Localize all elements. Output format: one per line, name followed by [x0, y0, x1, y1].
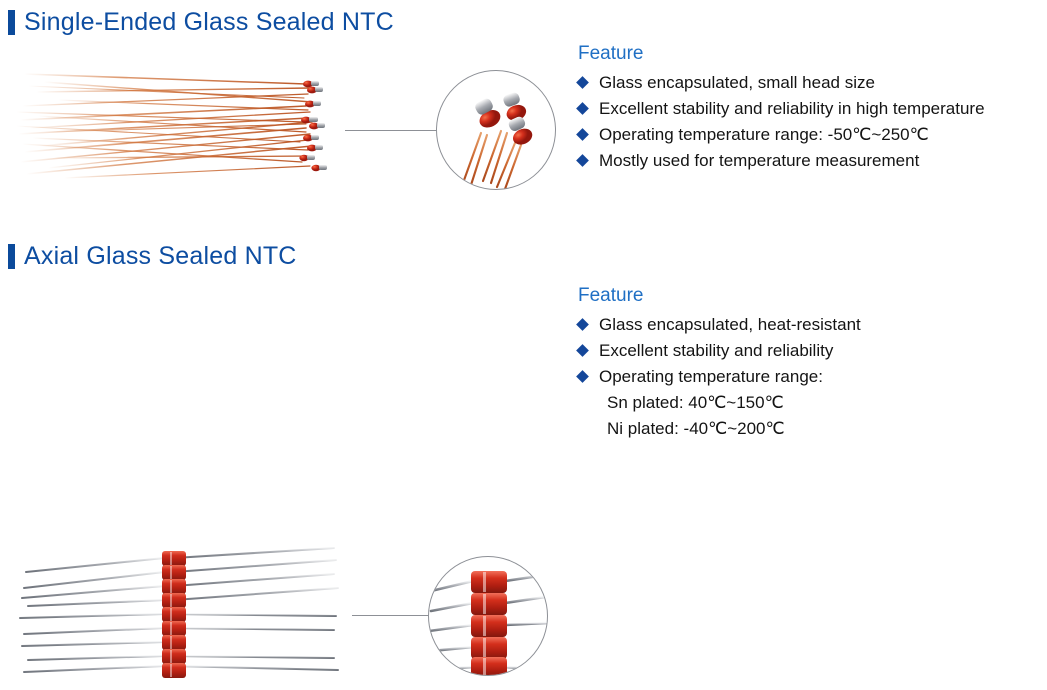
feature-text: Mostly used for temperature measurement — [599, 152, 919, 169]
diamond-bullet-icon — [576, 344, 589, 357]
feature-text: Excellent stability and reliability in h… — [599, 100, 985, 117]
feature-heading: Feature — [578, 44, 985, 65]
diamond-bullet-icon — [576, 102, 589, 115]
feature-subline: Sn plated: 40℃~150℃ — [578, 394, 861, 411]
product-section-axial: Axial Glass Sealed NTC — [0, 236, 1047, 469]
product-photo-axial — [14, 542, 354, 690]
magnifier-connector-line — [352, 615, 429, 616]
feature-item: Glass encapsulated, small head size — [578, 74, 985, 91]
feature-panel-single-ended: Feature Glass encapsulated, small head s… — [578, 44, 985, 178]
feature-text: Glass encapsulated, heat-resistant — [599, 316, 861, 333]
feature-list: Glass encapsulated, heat-resistant Excel… — [578, 316, 861, 385]
feature-item: Mostly used for temperature measurement — [578, 152, 985, 169]
feature-item: Glass encapsulated, heat-resistant — [578, 316, 861, 333]
product-section-single-ended: Single-Ended Glass Sealed NTC — [0, 0, 1047, 230]
product-photo-single-ended — [14, 62, 344, 184]
magnified-axial-illustration — [429, 557, 547, 675]
page-title: Axial Glass Sealed NTC — [24, 244, 297, 269]
section-title-row: Single-Ended Glass Sealed NTC — [8, 10, 394, 35]
feature-text: Operating temperature range: — [599, 368, 823, 385]
feature-text: Glass encapsulated, small head size — [599, 74, 875, 91]
title-accent-bar — [8, 10, 15, 35]
feature-text: Excellent stability and reliability — [599, 342, 833, 359]
feature-text: Operating temperature range: -50℃~250℃ — [599, 126, 929, 143]
magnifier-circle-single-ended — [436, 70, 556, 190]
section-title-row: Axial Glass Sealed NTC — [8, 244, 297, 269]
magnifier-connector-line — [345, 130, 437, 131]
diamond-bullet-icon — [576, 128, 589, 141]
feature-heading: Feature — [578, 286, 861, 307]
feature-subline: Ni plated: -40℃~200℃ — [578, 420, 861, 437]
magnified-bead-illustration — [437, 71, 555, 189]
feature-item: Excellent stability and reliability — [578, 342, 861, 359]
diamond-bullet-icon — [576, 76, 589, 89]
page-title: Single-Ended Glass Sealed NTC — [24, 10, 394, 35]
feature-list: Glass encapsulated, small head size Exce… — [578, 74, 985, 169]
feature-item: Operating temperature range: — [578, 368, 861, 385]
feature-item: Excellent stability and reliability in h… — [578, 100, 985, 117]
single-ended-illustration — [14, 62, 344, 184]
diamond-bullet-icon — [576, 370, 589, 383]
feature-panel-axial: Feature Glass encapsulated, heat-resista… — [578, 286, 861, 446]
title-accent-bar — [8, 244, 15, 269]
diamond-bullet-icon — [576, 154, 589, 167]
magnifier-circle-axial — [428, 556, 548, 676]
axial-illustration — [14, 542, 354, 690]
feature-item: Operating temperature range: -50℃~250℃ — [578, 126, 985, 143]
diamond-bullet-icon — [576, 318, 589, 331]
